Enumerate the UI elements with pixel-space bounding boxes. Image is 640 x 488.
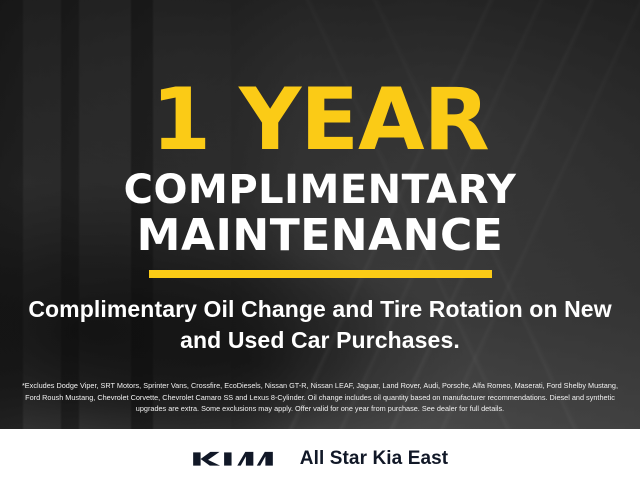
dealer-name: All Star Kia East — [300, 448, 448, 470]
headline-maintenance: MAINTENANCE — [137, 214, 504, 258]
headline-complimentary: COMPLIMENTARY — [124, 170, 517, 210]
subheading-text: Complimentary Oil Change and Tire Rotati… — [15, 294, 625, 356]
yellow-divider-bar — [149, 270, 492, 278]
promo-banner: 1 YEAR COMPLIMENTARY MAINTENANCE Complim… — [0, 0, 640, 488]
hero-content: 1 YEAR COMPLIMENTARY MAINTENANCE Complim… — [0, 0, 640, 429]
headline-year: 1 YEAR — [151, 78, 489, 162]
hero-section: 1 YEAR COMPLIMENTARY MAINTENANCE Complim… — [0, 0, 640, 429]
footer-bar: All Star Kia East — [0, 429, 640, 488]
disclaimer-fine-print: *Excludes Dodge Viper, SRT Motors, Sprin… — [0, 380, 640, 415]
kia-logo — [192, 448, 278, 470]
